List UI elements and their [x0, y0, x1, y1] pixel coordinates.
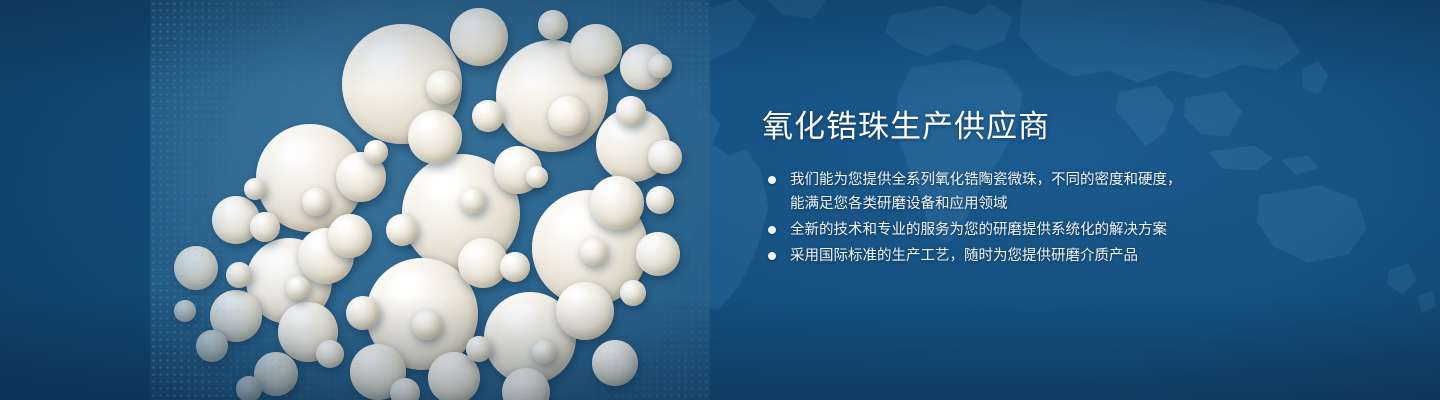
list-item: 采用国际标准的生产工艺，随时为您提供研磨介质产品 [762, 244, 1322, 268]
bullet-dot-icon [768, 252, 776, 260]
banner-headline: 氧化锆珠生产供应商 [762, 108, 1322, 146]
bullet-text-line2: 能满足您各类研磨设备和应用领域 [790, 192, 1322, 216]
bullet-dot-icon [768, 226, 776, 234]
list-item: 全新的技术和专业的服务为您的研磨提供系统化的解决方案 [762, 218, 1322, 242]
banner-copy: 氧化锆珠生产供应商 我们能为您提供全系列氧化锆陶瓷微珠，不同的密度和硬度， 能满… [762, 108, 1322, 270]
bullet-text-line1: 我们能为您提供全系列氧化锆陶瓷微珠，不同的密度和硬度， [790, 172, 1182, 188]
hero-banner: 氧化锆珠生产供应商 我们能为您提供全系列氧化锆陶瓷微珠，不同的密度和硬度， 能满… [0, 0, 1440, 400]
bullet-dot-icon [768, 176, 776, 184]
bullet-text-line1: 采用国际标准的生产工艺，随时为您提供研磨介质产品 [790, 248, 1138, 264]
banner-bullet-list: 我们能为您提供全系列氧化锆陶瓷微珠，不同的密度和硬度， 能满足您各类研磨设备和应… [762, 168, 1322, 268]
bullet-text-line1: 全新的技术和专业的服务为您的研磨提供系统化的解决方案 [790, 222, 1167, 238]
list-item: 我们能为您提供全系列氧化锆陶瓷微珠，不同的密度和硬度， 能满足您各类研磨设备和应… [762, 168, 1322, 216]
